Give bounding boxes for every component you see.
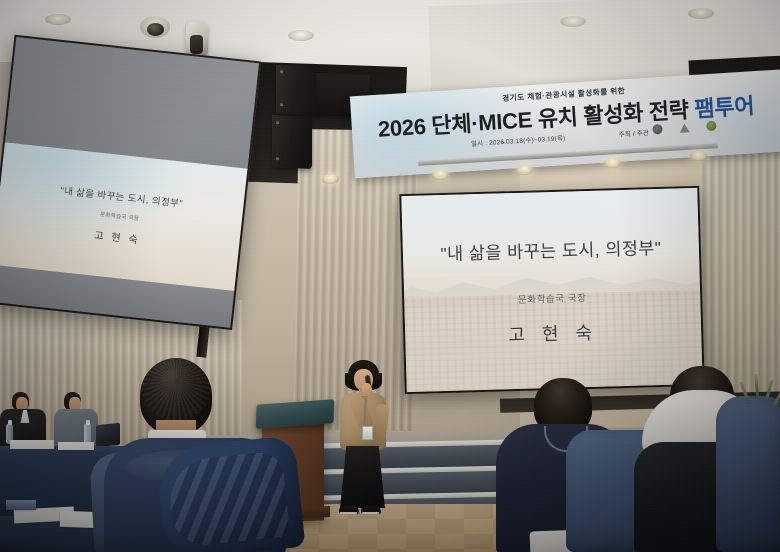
left-slide-title: "내 삶을 바꾸는 도시, 의정부" <box>60 183 184 210</box>
ceiling-projector-icon <box>186 22 208 58</box>
banner-title-highlight: 팸투어 <box>694 93 755 122</box>
slide-presenter-name: 고 현 숙 <box>508 319 598 347</box>
presenter <box>330 360 396 520</box>
papers-on-table <box>10 440 54 449</box>
water-bottle <box>84 424 91 444</box>
downlight-icon <box>560 16 586 27</box>
hanging-speaker-upper <box>276 65 316 115</box>
conference-hall-photo: "내 삶을 바꾸는 도시, 의정부" 문화학습국 국장 고 현 숙 경기도 체험… <box>0 0 780 552</box>
gyeonggi-province-logo-icon <box>652 124 663 135</box>
organizer-logo-2-icon <box>679 122 690 133</box>
slide-title: "내 삶을 바꾸는 도시, 의정부" <box>440 235 662 266</box>
banner-host-label: 주최 / 주관 <box>618 128 649 139</box>
folder-foreground <box>6 500 36 510</box>
organizer-logo-3-icon <box>706 121 717 132</box>
slide-role: 문화학습국 국장 <box>518 290 587 306</box>
left-slide-role: 문화학습국 국장 <box>100 210 140 222</box>
presenter-skirt <box>340 446 385 508</box>
papers-on-table <box>58 442 94 450</box>
attendee-hair-texture <box>142 360 210 420</box>
slide-text-block: "내 삶을 바꾸는 도시, 의정부" 문화학습국 국장 고 현 숙 <box>401 188 702 392</box>
downlight-icon <box>45 14 71 25</box>
dome-security-camera-icon <box>140 16 170 38</box>
decorative-plant <box>742 368 780 412</box>
left-slide-name: 고 현 숙 <box>94 227 142 247</box>
downlight-icon <box>688 8 714 19</box>
hanging-speaker-lower <box>272 115 312 169</box>
projection-screen-main: "내 삶을 바꾸는 도시, 의정부" 문화학습국 국장 고 현 숙 <box>399 186 704 394</box>
presenter-shoe <box>339 506 359 514</box>
presenter-shoe <box>361 506 381 514</box>
downlight-icon <box>288 30 314 41</box>
projection-screen-left: "내 삶을 바꾸는 도시, 의정부" 문화학습국 국장 고 현 숙 <box>0 35 261 330</box>
chair-back <box>716 396 780 552</box>
presenter-name-badge <box>362 426 373 440</box>
